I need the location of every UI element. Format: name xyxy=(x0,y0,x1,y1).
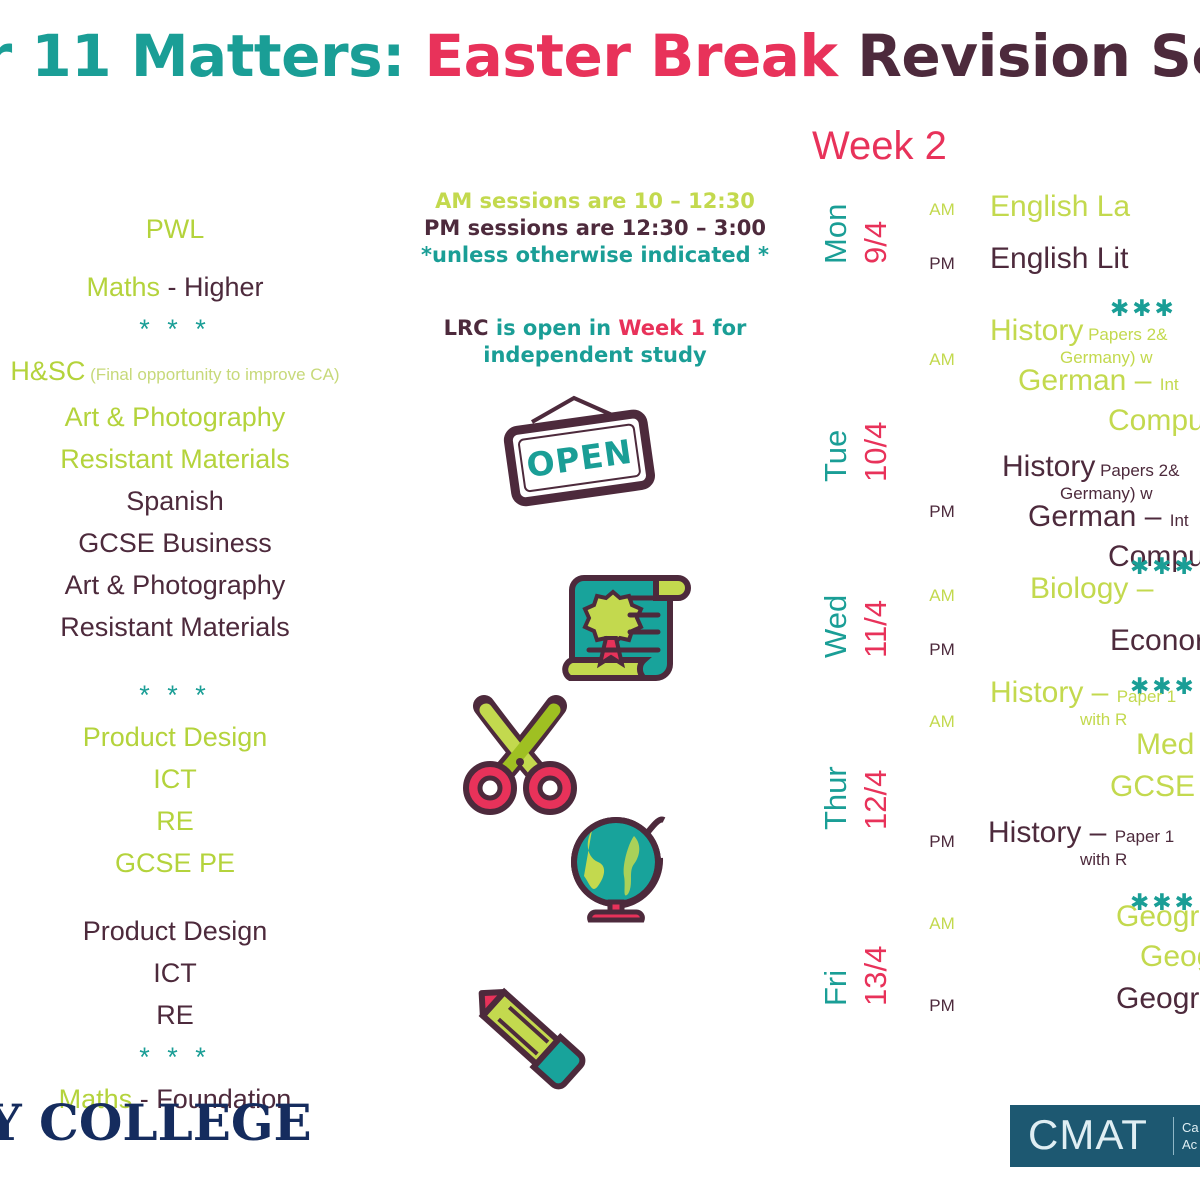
certificate-scroll-icon xyxy=(556,560,696,692)
schedule-table: Mon 9/4 AM PM English La English Lit Tue… xyxy=(800,182,1200,1024)
globe-icon xyxy=(548,800,698,935)
day-label-fri: Fri xyxy=(818,970,854,1006)
session-subject: History Papers 2& xyxy=(990,314,1200,348)
scissors-icon xyxy=(450,694,590,816)
list-item: Spanish xyxy=(0,480,410,522)
session-info-column: AM sessions are 10 – 12:30 PM sessions a… xyxy=(400,188,790,369)
subject-name: English Lit xyxy=(990,242,1128,275)
table-row: Tue 10/4 AM PM ✱✱✱ History Papers 2& Ger… xyxy=(800,294,1200,550)
period-label-pm: PM xyxy=(912,640,972,660)
pm-session-times: PM sessions are 12:30 – 3:00 xyxy=(400,215,790,242)
table-row: Wed 11/4 AM PM ✱✱✱ Biology – Econor xyxy=(800,550,1200,674)
date-label-thur: 12/4 xyxy=(858,770,894,830)
day-label-wed: Wed xyxy=(818,595,854,658)
cmat-logo-subtext: Ca Ac xyxy=(1182,1119,1199,1153)
divider-stars: * * * xyxy=(0,1036,410,1078)
title-part-easter: Easter Break xyxy=(425,22,858,90)
subject-detail: Papers 2& xyxy=(1095,461,1179,480)
cmat-logo: CMAT Ca Ac xyxy=(1010,1105,1200,1167)
date-label-tue: 10/4 xyxy=(858,422,894,482)
divider-stars: * * * xyxy=(0,674,410,716)
period-label-pm: PM xyxy=(912,832,972,852)
subject-detail: Papers 2& xyxy=(1083,325,1167,344)
period-label-pm: PM xyxy=(912,502,972,522)
list-item: ICT xyxy=(0,758,410,800)
lrc-week-label: Week 1 xyxy=(618,316,705,340)
date-label-fri: 13/4 xyxy=(858,946,894,1006)
subject-name: Med xyxy=(1136,728,1194,761)
page-title: ar 11 Matters: Easter Break Revision Ses… xyxy=(0,22,1200,90)
list-item-suffix: - Higher xyxy=(160,272,264,302)
session-subject: Geogra xyxy=(1140,940,1200,974)
open-sign-icon: OPEN xyxy=(494,392,664,517)
session-subject: Econor xyxy=(1110,624,1200,658)
subject-name: History xyxy=(990,314,1083,347)
lrc-text-b: for xyxy=(705,316,746,340)
session-subject: GCSE xyxy=(1110,770,1200,804)
spacer xyxy=(0,648,410,674)
college-logo-text: LY COLLEGE xyxy=(0,1093,312,1152)
lrc-notice-line1: LRC is open in Week 1 for xyxy=(400,315,790,342)
list-item: GCSE PE xyxy=(0,842,410,884)
subject-list-column: PWL Maths - Higher * * * H&SC (Final opp… xyxy=(0,208,410,1120)
session-subject: History Papers 2& xyxy=(1002,450,1200,484)
list-item-label: Maths xyxy=(86,272,160,302)
session-subject-cont: with R xyxy=(1080,710,1200,730)
cmat-subtext-line2: Ac xyxy=(1182,1136,1199,1153)
lrc-text-a: is open in xyxy=(489,316,619,340)
period-label-am: AM xyxy=(912,914,972,934)
session-subject: Biology – xyxy=(1030,572,1200,606)
title-part-revision: Revision Session xyxy=(857,22,1200,90)
session-subject: German – Int xyxy=(1028,500,1200,534)
session-subject: Geogra xyxy=(1116,982,1200,1016)
session-subject: Compu xyxy=(1108,404,1200,438)
am-session-times: AM sessions are 10 – 12:30 xyxy=(400,188,790,215)
subject-detail: with R xyxy=(1080,710,1127,729)
day-label-thur: Thur xyxy=(818,766,854,830)
period-label-am: AM xyxy=(912,712,972,732)
list-item: RE xyxy=(0,994,410,1036)
table-row: Fri 13/4 AM PM ✱✱✱ Geogra Geogra Geogra xyxy=(800,894,1200,1024)
subject-name: Compu xyxy=(1108,404,1200,437)
pencil-icon xyxy=(452,972,602,1097)
lrc-notice-line2: independent study xyxy=(400,342,790,369)
table-row: Thur 12/4 AM PM ✱✱✱ History – Paper 1 wi… xyxy=(800,674,1200,894)
list-item: Resistant Materials xyxy=(0,606,410,648)
subject-name: Geogra xyxy=(1140,940,1200,973)
period-label-pm: PM xyxy=(912,254,972,274)
list-item: GCSE Business xyxy=(0,522,410,564)
unless-indicated-note: *unless otherwise indicated * xyxy=(400,242,790,269)
period-label-am: AM xyxy=(912,200,972,220)
session-subject: Geogra xyxy=(1116,900,1200,934)
session-subject: History – Paper 1 xyxy=(988,816,1200,850)
cmat-logo-text: CMAT xyxy=(1028,1111,1148,1159)
lrc-label: LRC xyxy=(444,316,489,340)
spacer xyxy=(0,884,410,910)
subject-detail: Paper 1 xyxy=(1117,687,1177,706)
subject-name: German – xyxy=(1028,500,1170,533)
subject-name: History – xyxy=(990,676,1117,709)
subject-detail: Int xyxy=(1160,375,1179,394)
period-label-am: AM xyxy=(912,586,972,606)
period-label-pm: PM xyxy=(912,996,972,1016)
day-label-mon: Mon xyxy=(818,204,854,264)
list-item: Maths - Higher xyxy=(0,266,410,308)
list-item: Art & Photography xyxy=(0,564,410,606)
list-item: Product Design xyxy=(0,910,410,952)
lrc-notice: LRC is open in Week 1 for independent st… xyxy=(400,315,790,369)
cmat-subtext-line1: Ca xyxy=(1182,1119,1199,1136)
table-row: Mon 9/4 AM PM English La English Lit xyxy=(800,182,1200,294)
list-item: RE xyxy=(0,800,410,842)
subject-name: Geogra xyxy=(1116,982,1200,1015)
subject-name: GCSE xyxy=(1110,770,1195,803)
subject-detail: Int xyxy=(1170,511,1189,530)
period-label-am: AM xyxy=(912,350,972,370)
session-subject: English Lit xyxy=(990,242,1200,276)
subject-name: Biology – xyxy=(1030,572,1153,605)
date-label-mon: 9/4 xyxy=(858,221,894,264)
title-part-year: ar 11 Matters: xyxy=(0,22,425,90)
date-label-wed: 11/4 xyxy=(858,600,894,658)
session-subject: English La xyxy=(990,190,1200,224)
list-item: Product Design xyxy=(0,716,410,758)
session-subject: German – Int xyxy=(1018,364,1200,398)
session-subject: History – Paper 1 xyxy=(990,676,1200,710)
list-item-label: H&SC xyxy=(10,356,85,386)
cmat-logo-divider xyxy=(1173,1117,1174,1155)
spacer xyxy=(0,250,410,266)
list-item: Resistant Materials xyxy=(0,438,410,480)
day-label-tue: Tue xyxy=(818,430,854,482)
list-item: PWL xyxy=(0,208,410,250)
list-item-note: (Final opportunity to improve CA) xyxy=(85,365,339,384)
session-subject: Med xyxy=(1136,728,1200,762)
subject-name: Geogra xyxy=(1116,900,1200,933)
session-subject-cont: with R xyxy=(1080,850,1200,870)
subject-name: English La xyxy=(990,190,1130,223)
subject-name: History – xyxy=(988,816,1115,849)
list-item: ICT xyxy=(0,952,410,994)
divider-stars: * * * xyxy=(0,308,410,350)
subject-name: History xyxy=(1002,450,1095,483)
list-item: H&SC (Final opportunity to improve CA) xyxy=(0,350,410,396)
poster-canvas: ar 11 Matters: Easter Break Revision Ses… xyxy=(0,0,1200,1200)
list-item: Art & Photography xyxy=(0,396,410,438)
subject-detail: with R xyxy=(1080,850,1127,869)
week-heading: Week 2 xyxy=(812,124,947,169)
subject-name: Econor xyxy=(1110,624,1200,657)
subject-detail: Paper 1 xyxy=(1115,827,1175,846)
subject-name: German – xyxy=(1018,364,1160,397)
